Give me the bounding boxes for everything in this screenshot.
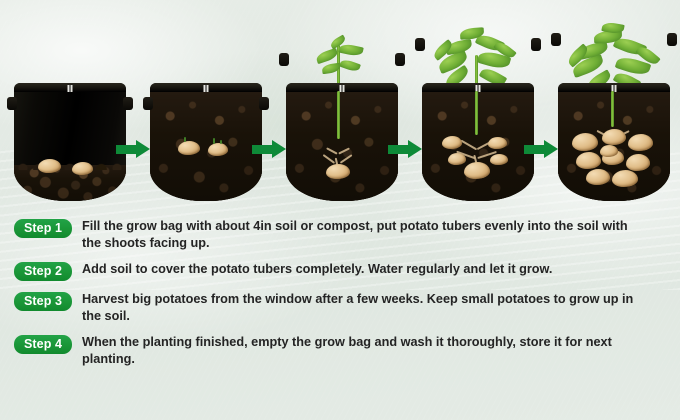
bag-handle-left <box>415 38 425 51</box>
potato-tuber <box>488 137 507 149</box>
potato-tuber <box>178 141 200 155</box>
grow-bag-fabric <box>150 83 262 201</box>
bag-handle-right <box>259 97 269 110</box>
step-text-1: Fill the grow bag with about 4in soil or… <box>82 218 666 251</box>
plant-leaf <box>315 48 339 64</box>
step-text-2: Add soil to cover the potato tubers comp… <box>82 261 666 278</box>
grow-bag-fabric <box>558 83 670 201</box>
potato-tuber <box>586 169 610 185</box>
bag-handle-left <box>143 97 153 110</box>
plant-stem-buried <box>337 91 340 139</box>
potato-tuber <box>208 143 228 156</box>
grow-bag-stage-5 <box>558 11 670 201</box>
bag-handle-right <box>531 38 541 51</box>
bag-handle-right <box>667 33 677 46</box>
potato-tuber <box>464 162 490 179</box>
tuber-sprout <box>220 140 222 144</box>
tuber-sprout <box>213 138 215 144</box>
soil-layer <box>286 92 398 201</box>
plant-stem-buried <box>475 91 478 135</box>
grow-bag-fabric <box>14 83 126 201</box>
potato-tuber <box>326 164 350 179</box>
step-item-3: Step 3 Harvest big potatoes from the win… <box>0 291 680 324</box>
step-text-3: Harvest big potatoes from the window aft… <box>82 291 666 324</box>
step-list: Step 1 Fill the grow bag with about 4in … <box>0 218 680 377</box>
infographic-page: Step 1 Fill the grow bag with about 4in … <box>0 0 680 420</box>
step-item-2: Step 2 Add soil to cover the potato tube… <box>0 261 680 281</box>
bag-handle-left <box>551 33 561 46</box>
bag-label-tag <box>340 85 345 92</box>
right-arrow-icon <box>252 140 286 159</box>
step-text-4: When the planting finished, empty the gr… <box>82 334 666 367</box>
potato-tuber <box>600 145 618 157</box>
plant-stem-buried <box>611 91 614 127</box>
grow-bag-fabric <box>286 83 398 201</box>
step-badge-1: Step 1 <box>14 219 72 238</box>
soil-layer <box>150 92 262 201</box>
grow-bag-stage-2 <box>150 75 262 201</box>
growth-stage-illustration <box>0 0 680 215</box>
right-arrow-icon <box>388 140 422 159</box>
grow-bag-fabric <box>422 83 534 201</box>
potato-tuber <box>572 133 598 151</box>
right-arrow-icon <box>116 140 150 159</box>
step-badge-3: Step 3 <box>14 292 72 311</box>
bag-handle-right <box>123 97 133 110</box>
step-item-4: Step 4 When the planting finished, empty… <box>0 334 680 367</box>
potato-tuber <box>72 162 93 175</box>
grow-bag-stage-1 <box>14 75 126 201</box>
bag-handle-left <box>279 53 289 66</box>
bag-handle-right <box>395 53 405 66</box>
potato-tuber <box>38 159 61 173</box>
potato-tuber <box>612 170 638 187</box>
potato-tuber <box>626 154 650 171</box>
step-item-1: Step 1 Fill the grow bag with about 4in … <box>0 218 680 251</box>
potato-tuber <box>448 153 466 165</box>
step-badge-2: Step 2 <box>14 262 72 281</box>
potato-tuber <box>490 154 508 165</box>
grow-bag-stage-3 <box>286 31 398 201</box>
right-arrow-icon <box>524 140 558 159</box>
potato-tuber <box>628 134 653 151</box>
bag-label-tag <box>204 85 209 92</box>
potato-tuber <box>576 152 601 169</box>
soil-layer <box>14 165 126 201</box>
step-badge-4: Step 4 <box>14 335 72 354</box>
bag-label-tag <box>68 85 73 92</box>
bag-handle-left <box>7 97 17 110</box>
potato-tuber <box>602 129 626 145</box>
tuber-sprout <box>184 137 186 142</box>
potato-tuber <box>442 136 462 149</box>
plant-leaf <box>338 43 364 58</box>
grow-bag-stage-4 <box>422 16 534 201</box>
plant-leaf <box>339 58 361 73</box>
